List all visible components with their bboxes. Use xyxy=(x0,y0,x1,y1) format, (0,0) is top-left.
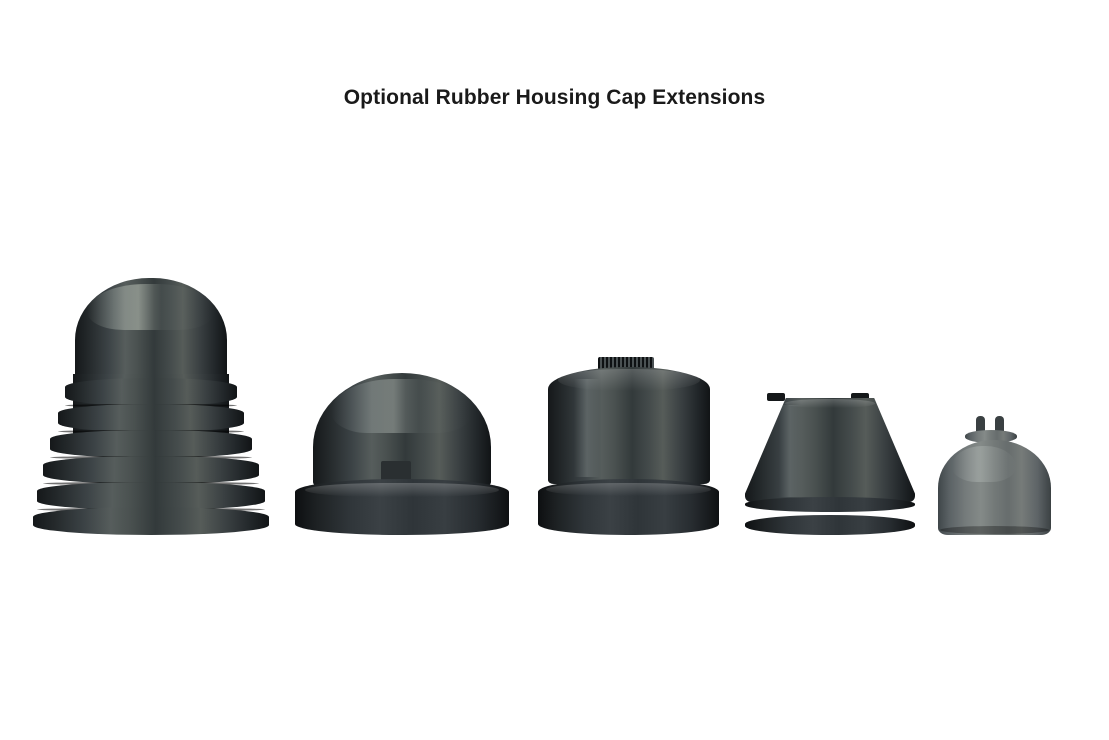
stepped-ring-5 xyxy=(37,482,265,510)
cylinder-body xyxy=(548,367,710,484)
extension-top-nub-left xyxy=(767,393,785,401)
product-comparison-image: Optional Rubber Housing Cap Extensions S… xyxy=(0,0,1109,740)
dome-base-flange xyxy=(295,479,509,535)
mini-cap-figure xyxy=(938,416,1051,535)
extension-base-ring-upper xyxy=(745,497,915,512)
stepped-ring-3 xyxy=(50,430,252,458)
product-mini: Mini xyxy=(938,416,1051,535)
stepped-dome-top xyxy=(75,278,227,386)
extension-cone-body xyxy=(745,398,915,502)
mini-body xyxy=(938,440,1051,535)
extension-base-ring-lower xyxy=(745,515,915,535)
page-title: Optional Rubber Housing Cap Extensions xyxy=(0,86,1109,110)
product-dome: Dome xyxy=(295,373,509,535)
stepped-ring-2 xyxy=(58,404,244,432)
stepped-ring-6 xyxy=(33,507,269,535)
product-cylinder: Cylinder xyxy=(538,357,719,535)
stepped-cap-figure xyxy=(33,278,269,535)
extension-cap-figure xyxy=(745,393,915,535)
stepped-ring-4 xyxy=(43,456,259,484)
dome-cap-figure xyxy=(295,373,509,535)
mini-base-shadow xyxy=(940,526,1049,534)
cylinder-cap-figure xyxy=(538,357,719,535)
product-stepped: Stepped xyxy=(33,278,269,535)
cylinder-base-flange xyxy=(538,479,719,535)
stepped-ring-1 xyxy=(65,378,237,406)
product-extension: Extension xyxy=(745,393,915,535)
